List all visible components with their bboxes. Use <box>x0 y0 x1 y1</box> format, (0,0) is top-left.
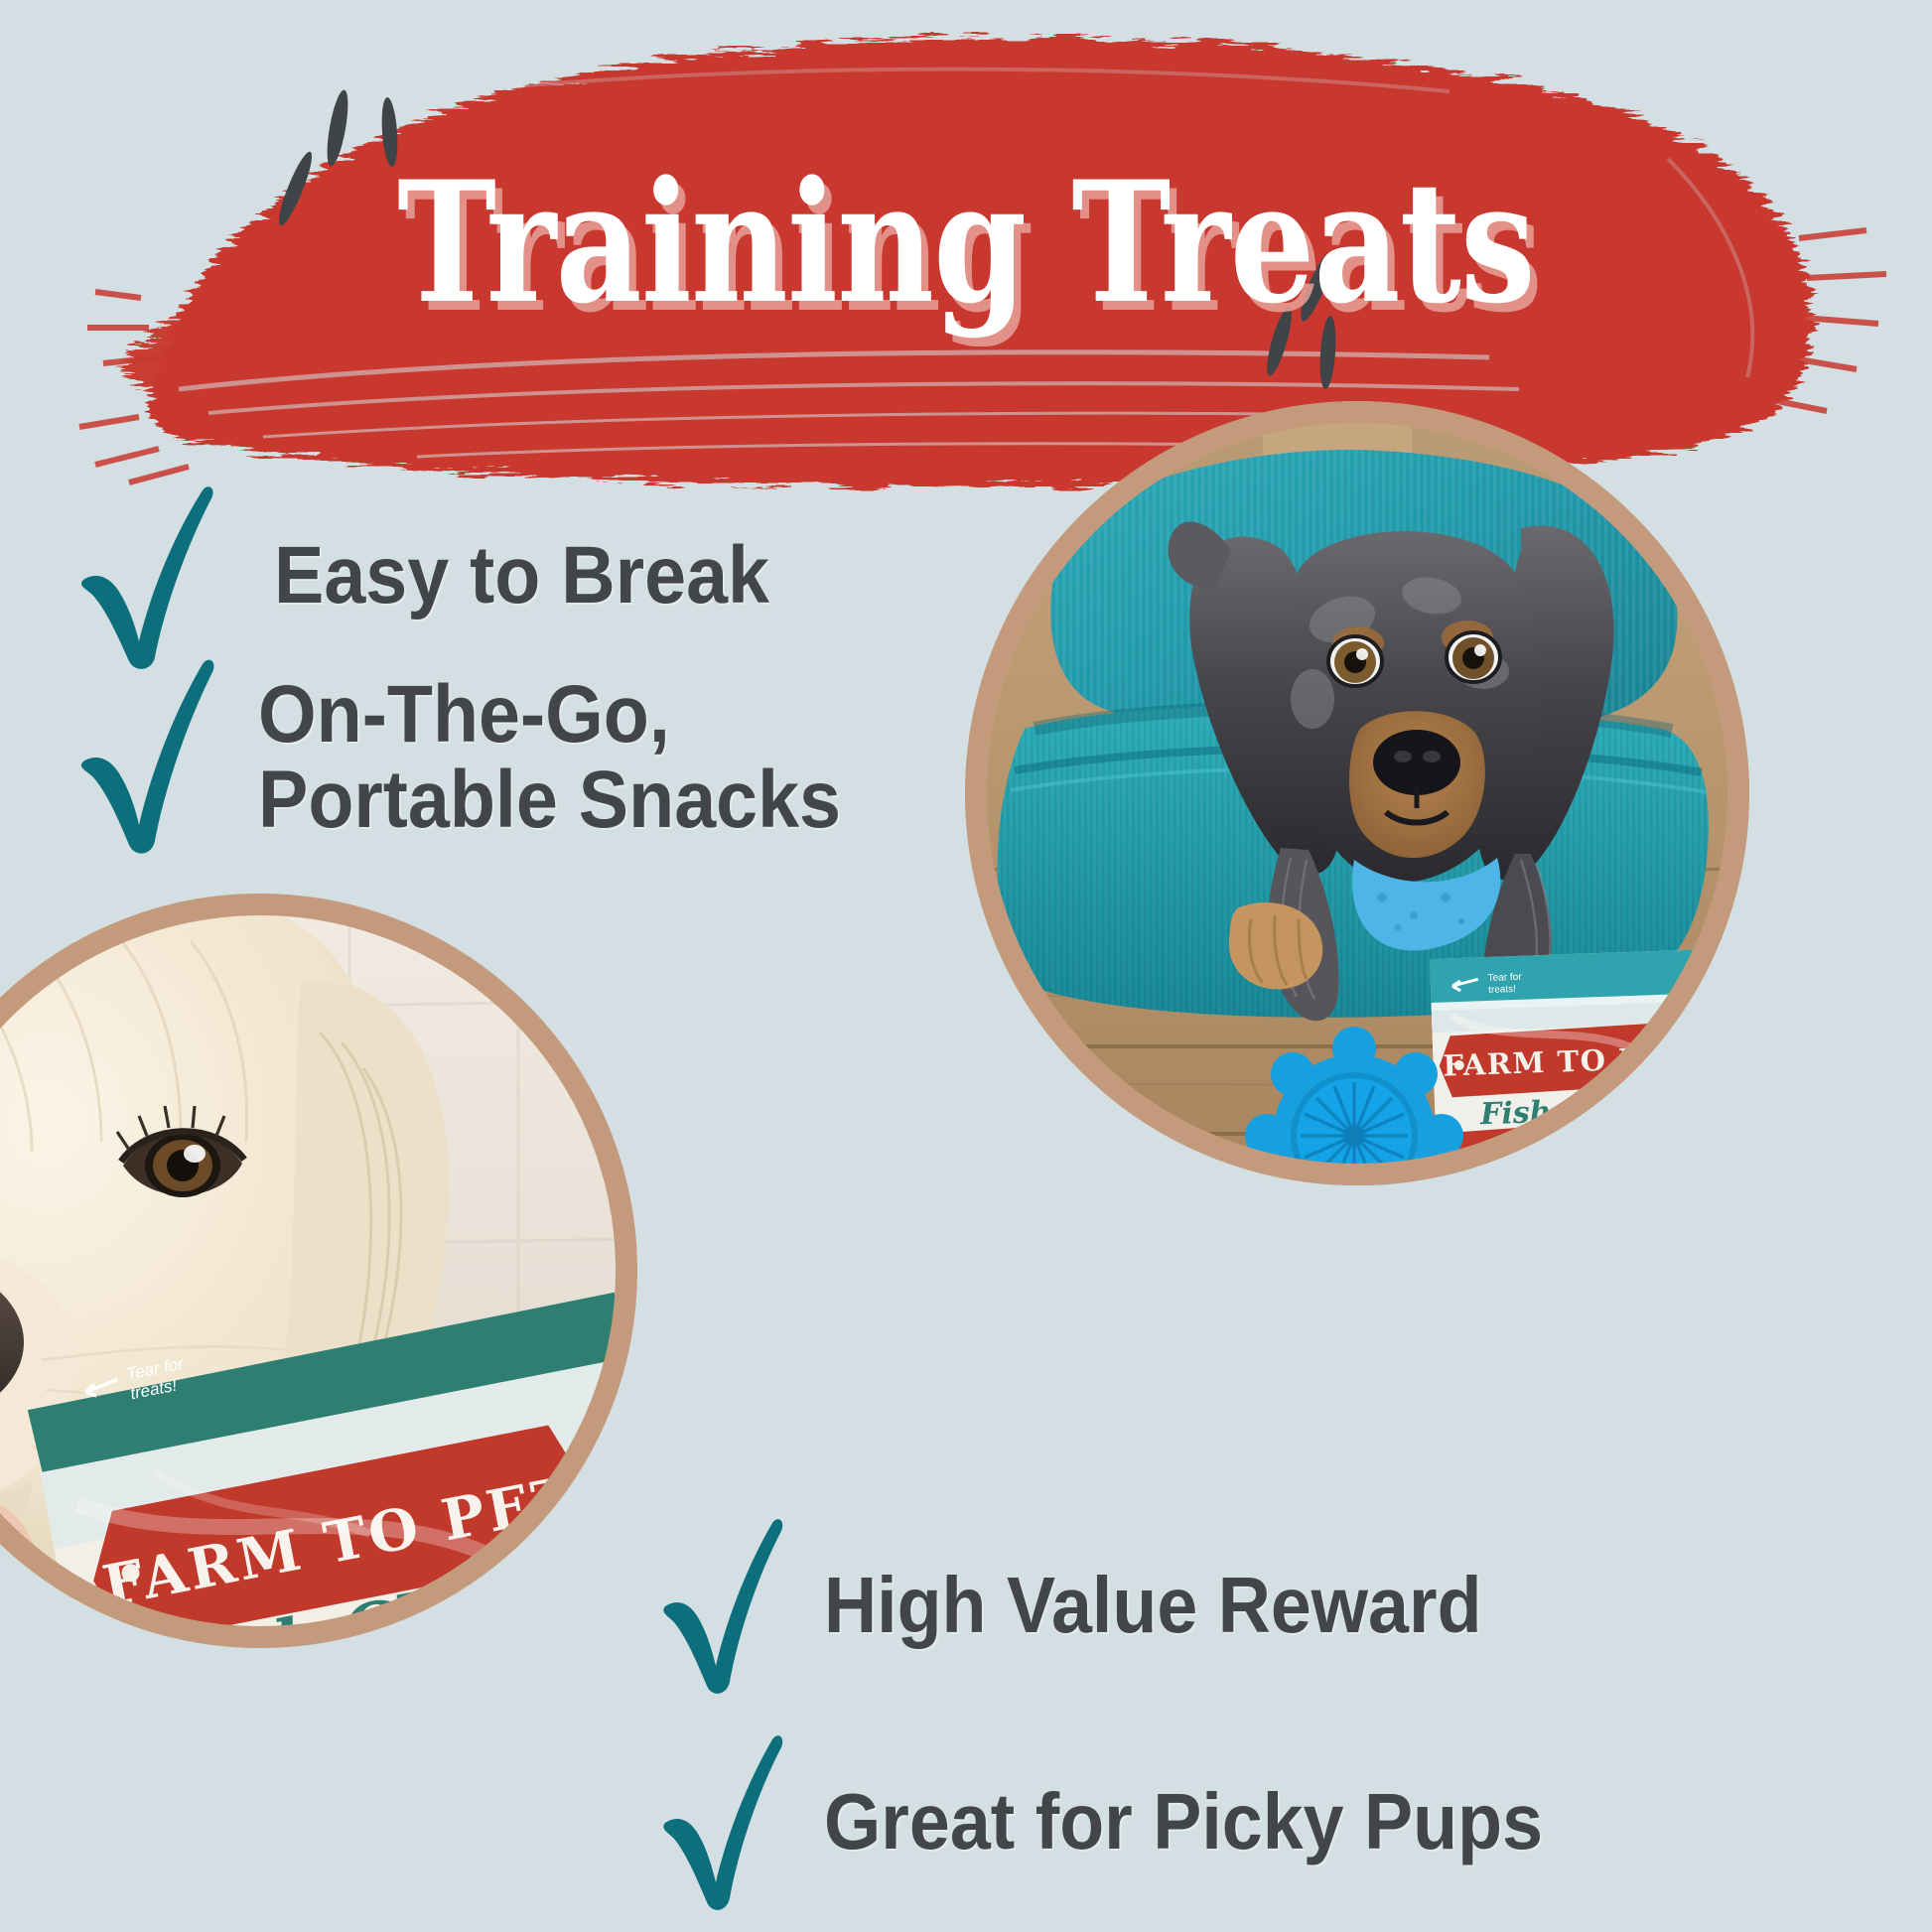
benefit-on-the-go: On-The-Go, Portable Snacks <box>71 650 892 864</box>
poster-canvas: Training Treats <box>0 0 1932 1932</box>
checkmark-icon <box>71 650 220 864</box>
benefit-label: Easy to Break <box>274 533 769 618</box>
benefit-easy-to-break: Easy to Break <box>71 477 812 675</box>
svg-text:DOG TREATS: DOG TREATS <box>1568 1149 1625 1161</box>
golden-scene: Tear for treats! FARM TO PET Fis <box>0 894 637 1648</box>
benefit-picky-pups: Great for Picky Pups <box>655 1727 1605 1916</box>
dachshund-scene: Tear for treats! FARM TO PET Fish Chips <box>965 401 1749 1185</box>
benefit-high-value-reward: High Value Reward <box>655 1511 1539 1700</box>
svg-text:treats!: treats! <box>1488 984 1516 996</box>
benefit-label: On-The-Go, Portable Snacks <box>258 672 841 842</box>
photo-dachshund-image: Tear for treats! FARM TO PET Fish Chips <box>965 401 1749 1185</box>
checkmark-icon <box>655 1727 786 1916</box>
photo-golden-image: Tear for treats! FARM TO PET Fis <box>0 894 637 1648</box>
checkmark-icon <box>71 477 220 675</box>
photo-golden-retriever: Tear for treats! FARM TO PET Fis <box>0 894 637 1648</box>
benefit-label: High Value Reward <box>824 1564 1482 1646</box>
svg-text:Tear for: Tear for <box>1488 972 1523 984</box>
benefit-label: Great for Picky Pups <box>824 1780 1543 1863</box>
checkmark-icon <box>655 1511 786 1700</box>
page-title: Training Treats <box>194 159 1739 326</box>
photo-dachshund: Tear for treats! FARM TO PET Fish Chips <box>965 401 1749 1185</box>
